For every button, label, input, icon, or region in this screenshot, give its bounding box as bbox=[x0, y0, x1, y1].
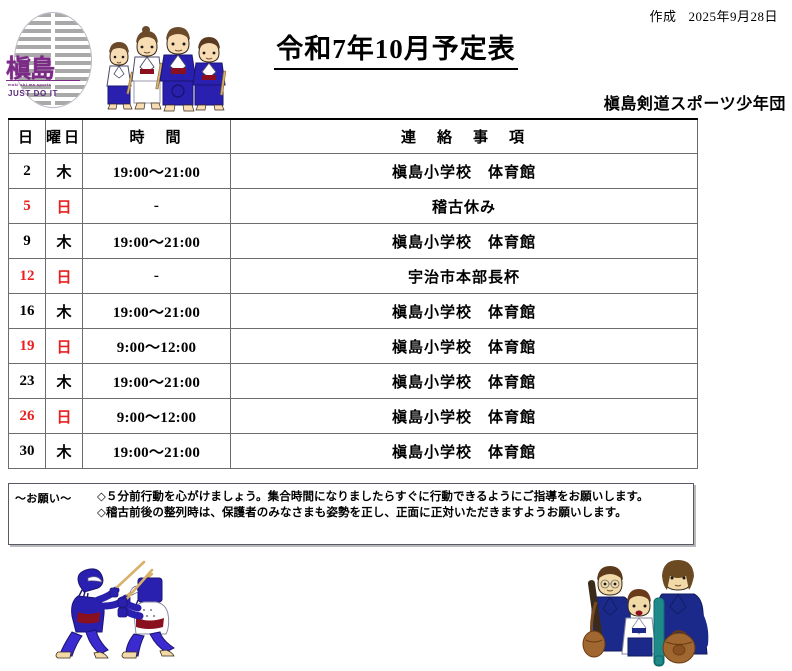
cell-time: 19:00〜21:00 bbox=[83, 434, 231, 469]
kendo-family-illustration bbox=[576, 552, 748, 670]
cell-day: 9 bbox=[9, 224, 46, 259]
cell-note: 宇治市本部長杯 bbox=[231, 259, 698, 294]
cell-note: 槇島小学校 体育館 bbox=[231, 224, 698, 259]
cell-time: 9:00〜12:00 bbox=[83, 329, 231, 364]
cell-time: - bbox=[83, 189, 231, 224]
cell-note: 槇島小学校 体育館 bbox=[231, 154, 698, 189]
cell-dow: 日 bbox=[46, 189, 83, 224]
cell-note: 槇島小学校 体育館 bbox=[231, 364, 698, 399]
cell-dow: 木 bbox=[46, 224, 83, 259]
schedule-table: 日 曜日 時 間 連 絡 事 項 2木19:00〜21:00槇島小学校 体育館5… bbox=[8, 118, 698, 469]
cell-dow: 木 bbox=[46, 294, 83, 329]
page-title-text: 令和7年10月予定表 bbox=[274, 27, 518, 70]
organization-name: 槇島剣道スポーツ少年団 bbox=[604, 90, 786, 114]
notes-line-1: ◇５分前行動を心がけましょう。集合時間になりましたらすぐに行動できるようにご指導… bbox=[97, 489, 689, 505]
logo-tagline-text: JUST DO IT bbox=[8, 89, 58, 98]
notes-label: ～お願い～ bbox=[15, 490, 72, 506]
cell-time: 19:00〜21:00 bbox=[83, 294, 231, 329]
cell-day: 5 bbox=[9, 189, 46, 224]
schedule-table-container: 日 曜日 時 間 連 絡 事 項 2木19:00〜21:00槇島小学校 体育館5… bbox=[8, 118, 697, 469]
cell-note: 槇島小学校 体育館 bbox=[231, 329, 698, 364]
table-header-row: 日 曜日 時 間 連 絡 事 項 bbox=[9, 119, 698, 154]
cell-note: 槇島小学校 体育館 bbox=[231, 434, 698, 469]
cell-dow: 木 bbox=[46, 434, 83, 469]
cell-day: 12 bbox=[9, 259, 46, 294]
cell-time: 19:00〜21:00 bbox=[83, 364, 231, 399]
column-header-note: 連 絡 事 項 bbox=[231, 119, 698, 154]
cell-time: 9:00〜12:00 bbox=[83, 399, 231, 434]
table-row: 12日-宇治市本部長杯 bbox=[9, 259, 698, 294]
created-label: 作成 bbox=[649, 9, 676, 24]
cell-note: 槇島小学校 体育館 bbox=[231, 399, 698, 434]
cell-dow: 木 bbox=[46, 154, 83, 189]
column-header-dow: 曜日 bbox=[46, 119, 83, 154]
cell-day: 30 bbox=[9, 434, 46, 469]
table-row: 26日9:00〜12:00槇島小学校 体育館 bbox=[9, 399, 698, 434]
cell-day: 26 bbox=[9, 399, 46, 434]
club-logo: 槇島 maki shi ma sports JUST DO IT bbox=[6, 12, 98, 106]
cell-day: 2 bbox=[9, 154, 46, 189]
cell-dow: 日 bbox=[46, 399, 83, 434]
logo-kanji-text: 槇島 bbox=[6, 56, 80, 81]
table-row: 2木19:00〜21:00槇島小学校 体育館 bbox=[9, 154, 698, 189]
document-header: 槇島 maki shi ma sports JUST DO IT bbox=[0, 0, 792, 118]
created-value: 2025年9月28日 bbox=[688, 9, 778, 24]
table-row: 5日-稽古休み bbox=[9, 189, 698, 224]
table-row: 19日9:00〜12:00槇島小学校 体育館 bbox=[9, 329, 698, 364]
cell-day: 16 bbox=[9, 294, 46, 329]
cell-time: - bbox=[83, 259, 231, 294]
created-date: 作成2025年9月28日 bbox=[649, 6, 778, 25]
cell-day: 23 bbox=[9, 364, 46, 399]
notes-line-2: ◇稽古前後の整列時は、保護者のみなさまも姿勢を正し、正面に正対いただきますようお… bbox=[97, 505, 689, 521]
cell-note: 稽古休み bbox=[231, 189, 698, 224]
column-header-day: 日 bbox=[9, 119, 46, 154]
table-row: 9木19:00〜21:00槇島小学校 体育館 bbox=[9, 224, 698, 259]
kendo-children-illustration bbox=[96, 17, 232, 113]
table-row: 16木19:00〜21:00槇島小学校 体育館 bbox=[9, 294, 698, 329]
notes-lines: ◇５分前行動を心がけましょう。集合時間になりましたらすぐに行動できるようにご指導… bbox=[97, 489, 689, 521]
table-row: 23木19:00〜21:00槇島小学校 体育館 bbox=[9, 364, 698, 399]
cell-day: 19 bbox=[9, 329, 46, 364]
table-row: 30木19:00〜21:00槇島小学校 体育館 bbox=[9, 434, 698, 469]
cell-dow: 木 bbox=[46, 364, 83, 399]
cell-time: 19:00〜21:00 bbox=[83, 224, 231, 259]
kendo-sparring-illustration bbox=[52, 556, 242, 666]
cell-dow: 日 bbox=[46, 259, 83, 294]
cell-note: 槇島小学校 体育館 bbox=[231, 294, 698, 329]
logo-romaji-text: maki shi ma sports bbox=[8, 82, 51, 87]
cell-dow: 日 bbox=[46, 329, 83, 364]
cell-time: 19:00〜21:00 bbox=[83, 154, 231, 189]
notes-box: ～お願い～ ◇５分前行動を心がけましょう。集合時間になりましたらすぐに行動できる… bbox=[8, 483, 694, 545]
column-header-time: 時 間 bbox=[83, 119, 231, 154]
schedule-table-body: 2木19:00〜21:00槇島小学校 体育館5日-稽古休み9木19:00〜21:… bbox=[9, 154, 698, 469]
